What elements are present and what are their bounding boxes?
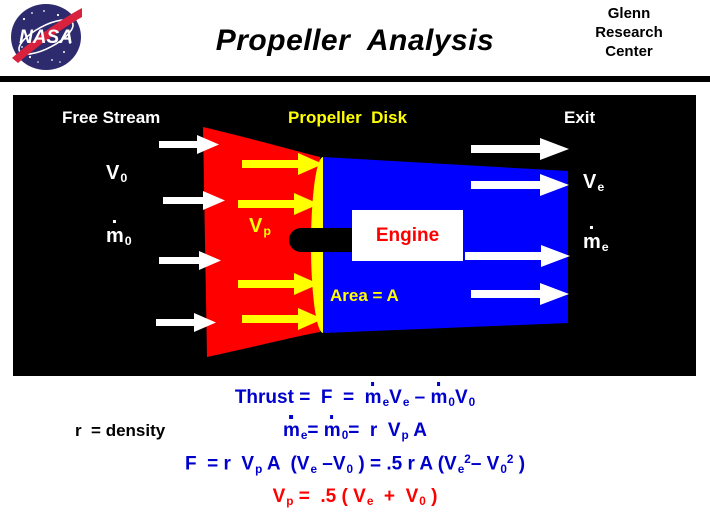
m0-symbol: m <box>106 226 124 246</box>
m0-subscript: 0 <box>124 234 132 248</box>
eq4-plus: + V <box>373 486 418 507</box>
center-line-3: Center <box>564 42 694 61</box>
equation-block: r = density Thrust = F = meVe – m0V0 me=… <box>0 380 710 530</box>
center-line-2: Research <box>564 23 694 42</box>
propeller-velocity-equation: Vp = .5 ( Ve + V0 ) <box>0 487 710 508</box>
research-center-name: Glenn Research Center <box>564 4 694 61</box>
eq1-ve: V <box>389 387 402 408</box>
ve-subscript: e <box>596 180 604 194</box>
eq4-sub-0: 0 <box>418 495 426 508</box>
eq1-mdot-0: m <box>430 388 447 407</box>
page-header: NASA Propeller Analysis Glenn Research C… <box>0 0 710 86</box>
eq2-equals-2: = r V <box>348 420 400 441</box>
eq2-mdot-e: m <box>283 421 300 440</box>
eq3-tail: ) <box>513 453 525 474</box>
center-line-1: Glenn <box>564 4 694 23</box>
ve-symbol: V <box>583 171 596 193</box>
eq3-sub-0: 0 <box>346 463 354 476</box>
eq4-tail: ) <box>426 486 438 507</box>
exit-arrow-1 <box>471 138 569 160</box>
vp-subscript: p <box>262 224 271 238</box>
eq3-sub-e: e <box>309 463 317 476</box>
eq2-sub-p: p <box>401 429 409 442</box>
eq3-minus: –V <box>317 453 346 474</box>
eq1-sub-0: 0 <box>447 396 455 409</box>
free-stream-massflow-label: m0 <box>106 226 132 248</box>
engine-label: Engine <box>352 225 463 247</box>
thrust-equation: Thrust = F = meVe – m0V0 <box>0 388 710 409</box>
eq1-minus: – <box>409 387 430 408</box>
eq3-sub-02: 0 <box>499 463 507 476</box>
v0-symbol: V <box>106 162 119 184</box>
exit-massflow-label: me <box>583 232 609 254</box>
propeller-flow-diagram: Engine Free Stream Propeller Disk Exit V… <box>13 95 696 376</box>
me-symbol: m <box>583 232 601 252</box>
me-subscript: e <box>601 240 609 254</box>
engine-box: Engine <box>352 210 463 261</box>
eq2-equals-1: = <box>307 420 323 441</box>
eq1-sub-e: e <box>382 396 390 409</box>
eq3-mid: A (V <box>262 453 309 474</box>
disk-area-label: Area = A <box>330 287 399 304</box>
eq2-mdot-0: m <box>324 421 341 440</box>
eq1-mdot-e: m <box>365 388 382 407</box>
header-divider <box>0 76 710 82</box>
eq2-tail: A <box>409 420 427 441</box>
eq1-lead: Thrust = F = <box>235 387 365 408</box>
vp-symbol: V <box>249 215 262 237</box>
eq4-lead: V <box>273 486 286 507</box>
exit-label: Exit <box>564 109 595 126</box>
free-stream-velocity-label: V0 <box>106 163 127 185</box>
exit-velocity-label: Ve <box>583 172 604 194</box>
eq3-minus2: – V <box>471 453 500 474</box>
mass-flow-equation: me= m0= r Vp A <box>0 421 710 442</box>
force-equation: F = r Vp A (Ve –V0 ) = .5 r A (Ve2– V02 … <box>0 454 710 476</box>
propeller-disk-label: Propeller Disk <box>288 109 407 126</box>
eq3-lead: F = r V <box>185 453 254 474</box>
eq4-mid: = .5 ( V <box>293 486 365 507</box>
eq3-mid2: ) = .5 r A (V <box>353 453 457 474</box>
eq1-v0: V <box>455 387 468 408</box>
propeller-velocity-label: Vp <box>249 216 271 238</box>
eq1-sub-02: 0 <box>468 396 476 409</box>
free-stream-label: Free Stream <box>62 109 160 126</box>
v0-subscript: 0 <box>119 171 127 185</box>
